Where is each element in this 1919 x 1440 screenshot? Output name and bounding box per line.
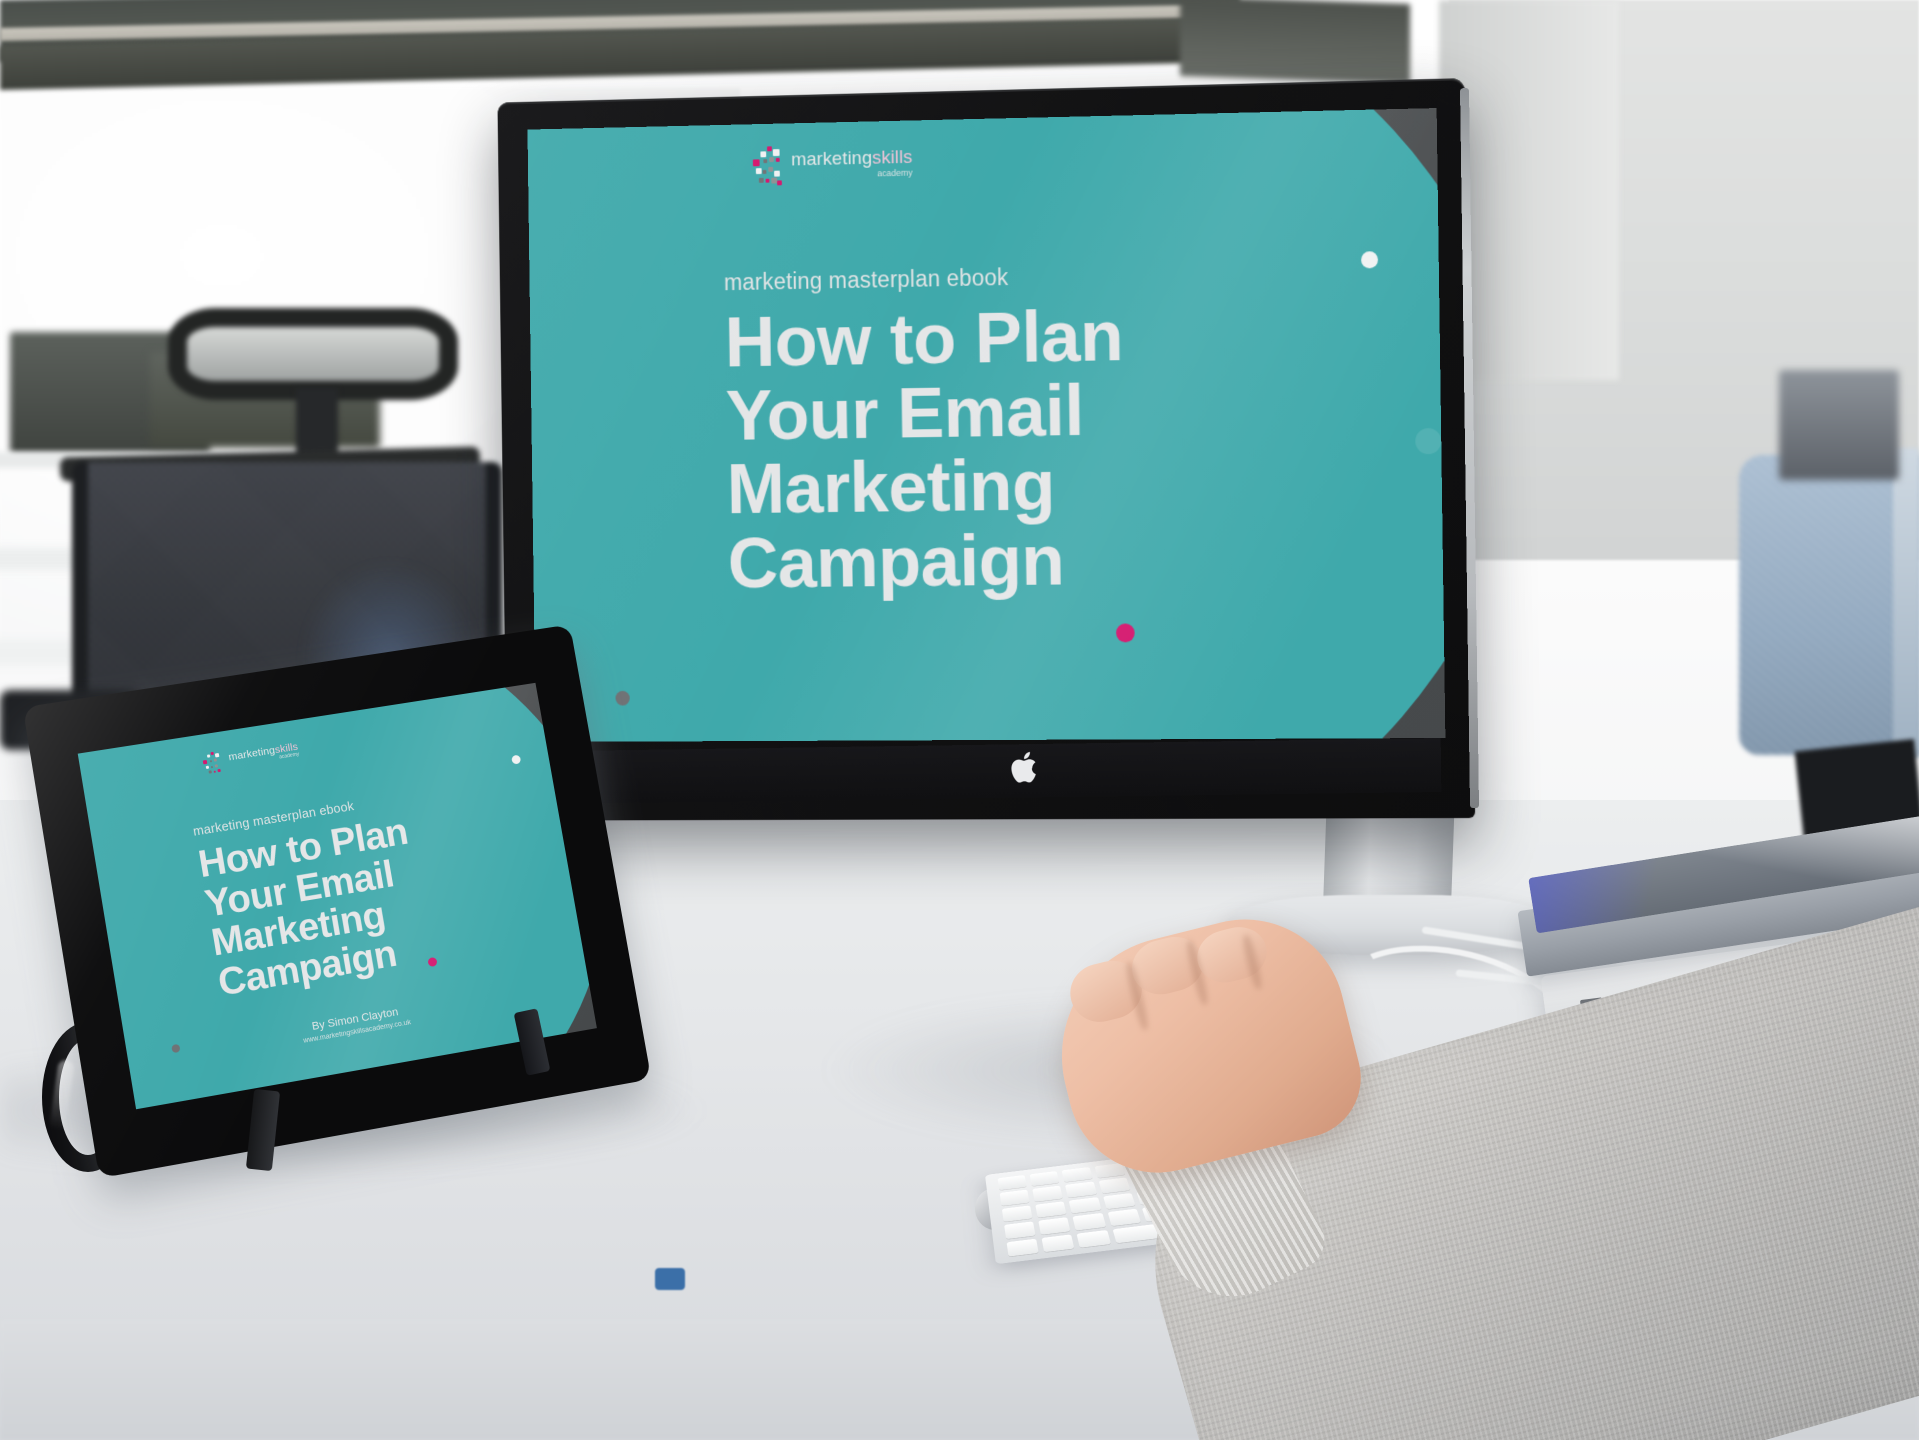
ebook-cover-slide: marketingskills academy marketing master… [527,108,1445,742]
display-screen[interactable]: marketingskills academy marketing master… [527,108,1445,742]
chair-headrest-post [296,388,338,460]
chair-headrest [168,308,458,400]
brand-logo: marketingskills academy [751,142,913,187]
ceiling-beam-right [1180,0,1410,84]
apple-logo-icon [1010,750,1040,784]
screenshot-canvas: marketingskills academy marketing master… [0,0,1919,1440]
scattered-squares-icon [751,145,784,187]
headline-line-2: Your Email [725,373,1124,453]
blue-chair [1739,455,1919,755]
headline-line-4: Campaign [727,522,1126,600]
slide-eyebrow: marketing masterplan ebook [724,264,1009,296]
logo-name: marketingskills [791,148,913,169]
background-monitor-right [1779,370,1899,480]
tablet-stand-clip [655,1268,685,1290]
scattered-squares-icon [200,750,223,777]
headline-line-1: How to Plan [724,299,1123,380]
blue-chair-edge [1893,448,1919,758]
apple-display[interactable]: marketingskills academy marketing master… [470,78,1470,818]
slide-headline: How to Plan Your Email Marketing Campaig… [724,299,1126,600]
gray-dot [615,691,629,706]
headline-line-3: Marketing [726,448,1125,527]
logo-tagline: academy [791,169,912,181]
magenta-dot [1116,623,1135,642]
tablet-device[interactable]: marketingskills academy marketing master… [23,624,652,1178]
